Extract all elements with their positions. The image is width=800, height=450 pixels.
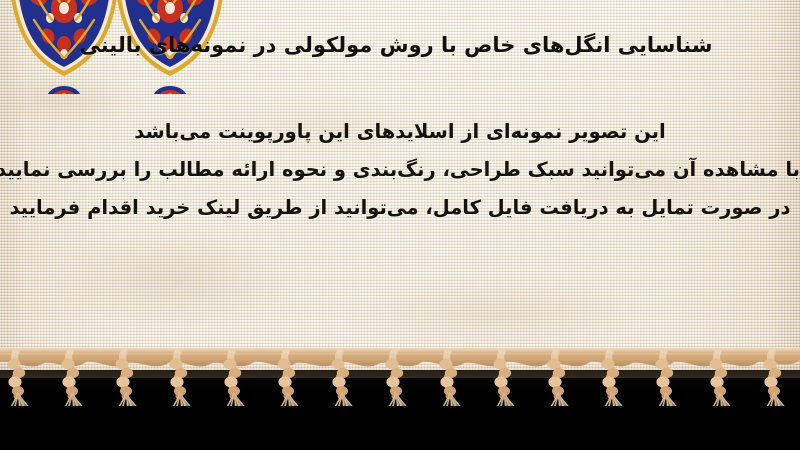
slide-title: شناسایی انگل‌های خاص با روش مولکولی در ن… [0,30,800,60]
knotted-tassel-fringe [0,348,800,406]
body-line-2: با مشاهده آن می‌توانید سبک طراحی، رنگ‌بن… [0,151,800,189]
slide-body: این تصویر نمونه‌ای از اسلایدهای این پاور… [0,113,800,227]
body-line-1: این تصویر نمونه‌ای از اسلایدهای این پاور… [0,113,800,151]
presentation-slide: شناسایی انگل‌های خاص با روش مولکولی در ن… [0,0,800,450]
body-line-3: در صورت تمایل به دریافت فایل کامل، می‌تو… [0,189,800,227]
